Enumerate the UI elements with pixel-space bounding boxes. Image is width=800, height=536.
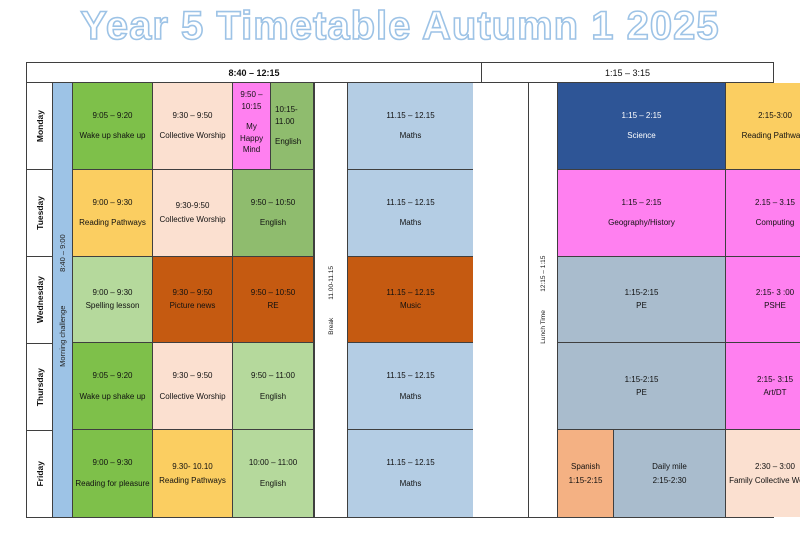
lesson-subject: Geography/History [608, 217, 675, 229]
lunch-column: Lunch Time 12:15 – 1:15 [528, 83, 558, 517]
lesson-cell[interactable]: 9:50 – 10:50RE [233, 257, 314, 344]
day-label-column: Monday Tuesday Wednesday Thursday Friday [27, 83, 53, 517]
lesson-time: 2:30 – 3:00 [755, 461, 795, 473]
page-title: Year 5 Timetable Autumn 1 2025 [0, 4, 800, 49]
lesson-time: 2:15- 3 :00 [756, 287, 794, 299]
lesson-time: 1:15 – 2:15 [621, 110, 661, 122]
break-column: Break 11.00-11.15 [314, 83, 348, 517]
afternoon-period-header: 1:15 – 3:15 [482, 63, 773, 82]
core-row-tuesday: 11.15 – 12.15Maths [348, 170, 473, 257]
lesson-time: 9:05 – 9:20 [92, 370, 132, 382]
lesson-cell[interactable]: 9:30 – 9:50Collective Worship [153, 83, 233, 170]
timetable-grid: 8:40 – 12:15 1:15 – 3:15 Monday Tuesday … [26, 62, 774, 518]
lesson-subject: English [260, 478, 286, 490]
maths-column: 11.15 – 12.15Maths11.15 – 12.15Maths11.1… [348, 83, 473, 517]
afternoon-row-friday: Spanish1:15-2:15Daily mile2:15-2:302:30 … [558, 430, 773, 517]
morning-row-wednesday: 9:00 – 9:30Spelling lesson9:30 – 9:50Pic… [73, 257, 314, 344]
lesson-subject: Reading Pathways [79, 217, 146, 229]
lesson-cell[interactable]: 9:00 – 9:30Spelling lesson [73, 257, 153, 344]
timetable-page: Year 5 Timetable Autumn 1 2025 8:40 – 12… [0, 0, 800, 536]
lesson-subject: Music [400, 300, 421, 312]
core-row-thursday: 11.15 – 12.15Maths [348, 343, 473, 430]
break-label: Break [328, 317, 335, 334]
afternoon-row-tuesday: 1:15 – 2:15Geography/History2.15 – 3.15C… [558, 170, 773, 257]
lesson-cell[interactable]: 1:15-2:15PE [558, 257, 726, 344]
lesson-cell[interactable]: 9:30 – 9:50Collective Worship [153, 343, 233, 430]
period-header-row: 8:40 – 12:15 1:15 – 3:15 [27, 63, 773, 83]
morning-challenge-text: Morning challenge 8:40 – 9:00 [58, 234, 67, 367]
lesson-subject: PE [636, 300, 647, 312]
lesson-subject: RE [267, 300, 278, 312]
lesson-time: 9:00 – 9:30 [92, 457, 132, 469]
morning-row-thursday: 9:05 – 9:20Wake up shake up9:30 – 9:50Co… [73, 343, 314, 430]
lesson-subject: My Happy Mind [234, 121, 269, 156]
lesson-time: 11.15 – 12.15 [386, 457, 434, 469]
morning-block: 9:05 – 9:20Wake up shake up9:30 – 9:50Co… [73, 83, 528, 517]
core-row-monday: 11.15 – 12.15Maths [348, 83, 473, 170]
lesson-subject: Collective Worship [159, 214, 225, 226]
day-label-wednesday: Wednesday [27, 257, 52, 344]
lesson-time: 2:15-3:00 [758, 110, 792, 122]
afternoon-row-monday: 1:15 – 2:15Science2:15-3:00Reading Pathw… [558, 83, 773, 170]
lesson-time: 11.15 – 12.15 [386, 370, 434, 382]
lunch-text: Lunch Time 12:15 – 1:15 [540, 256, 547, 344]
lesson-subject: Wake up shake up [80, 130, 146, 142]
lesson-time: 9:30 – 9:50 [172, 287, 212, 299]
timetable-body: Monday Tuesday Wednesday Thursday Friday [27, 83, 773, 517]
lesson-subject: 1:15-2:15 [569, 475, 603, 487]
lesson-subject: English [260, 217, 286, 229]
lesson-time: 9:30-9:50 [176, 200, 210, 212]
lesson-subject: Maths [400, 130, 422, 142]
lesson-time: 2.15 – 3.15 [755, 197, 795, 209]
lesson-cell[interactable]: 1:15 – 2:15Geography/History [558, 170, 726, 257]
lunch-label: Lunch Time [540, 310, 547, 344]
lesson-cell[interactable]: 9:05 – 9:20Wake up shake up [73, 343, 153, 430]
lesson-cell[interactable]: 9:00 – 9:30Reading for pleasure [73, 430, 153, 517]
lesson-cell[interactable]: 2:15- 3:15Art/DT [726, 343, 800, 430]
lesson-subject: Picture news [170, 300, 216, 312]
lesson-time: Daily mile [652, 461, 687, 473]
afternoon-row-wednesday: 1:15-2:15PE2:15- 3 :00PSHE [558, 257, 773, 344]
morning-lessons-columns: 9:05 – 9:20Wake up shake up9:30 – 9:50Co… [73, 83, 314, 517]
lesson-subject: English [260, 391, 286, 403]
lesson-time: 9:05 – 9:20 [92, 110, 132, 122]
lesson-time: 9:00 – 9:30 [92, 197, 132, 209]
core-row-friday: 11.15 – 12.15Maths [348, 430, 473, 517]
lesson-cell[interactable]: 9:50 – 10:15My Happy Mind [233, 83, 271, 170]
day-label-tuesday: Tuesday [27, 170, 52, 257]
lesson-time: 9:30 – 9:50 [172, 370, 212, 382]
lesson-cell[interactable]: Daily mile2:15-2:30 [614, 430, 726, 517]
lesson-cell[interactable]: 11.15 – 12.15Music [348, 257, 473, 344]
day-name-text: Thursday [35, 368, 45, 406]
lesson-subject: Wake up shake up [80, 391, 146, 403]
lesson-cell[interactable]: 9.30- 10.10Reading Pathways [153, 430, 233, 517]
lesson-subject: Reading Pathways [159, 475, 226, 487]
lesson-subject: PE [636, 387, 647, 399]
lesson-cell[interactable]: Spanish1:15-2:15 [558, 430, 614, 517]
lesson-subject: Collective Worship [159, 391, 225, 403]
day-label-thursday: Thursday [27, 344, 52, 431]
lesson-cell[interactable]: 10:15-11.00English [271, 83, 314, 170]
lunch-time: 12:15 – 1:15 [540, 256, 547, 292]
lesson-subject: Maths [400, 478, 422, 490]
lesson-subject: Art/DT [763, 387, 786, 399]
afternoon-row-thursday: 1:15-2:15PE2:15- 3:15Art/DT [558, 343, 773, 430]
lesson-time: 1:15-2:15 [625, 374, 659, 386]
lesson-cell[interactable]: 9:50 – 10:50English [233, 170, 314, 257]
lesson-cell[interactable]: 10:00 – 11:00English [233, 430, 314, 517]
lesson-cell[interactable]: 2:15- 3 :00PSHE [726, 257, 800, 344]
lesson-subject: Maths [400, 217, 422, 229]
lesson-time: 1:15-2:15 [625, 287, 659, 299]
lesson-subject: Science [627, 130, 655, 142]
lesson-subject: Family Collective Worship [729, 475, 800, 487]
lesson-subject: Maths [400, 391, 422, 403]
morning-row-monday: 9:05 – 9:20Wake up shake up9:30 – 9:50Co… [73, 83, 314, 170]
lesson-time: 10:00 – 11:00 [249, 457, 297, 469]
lesson-time: 9:00 – 9:30 [92, 287, 132, 299]
day-name-text: Friday [35, 461, 45, 487]
lesson-cell[interactable]: 11.15 – 12.15Maths [348, 170, 473, 257]
morning-row-tuesday: 9:00 – 9:30Reading Pathways9:30-9:50Coll… [73, 170, 314, 257]
lesson-cell[interactable]: 2:15-3:00Reading Pathways [726, 83, 800, 170]
lesson-time: 9:30 – 9:50 [172, 110, 212, 122]
lesson-subject: Reading Pathways [742, 130, 800, 142]
lesson-time: 1:15 – 2:15 [621, 197, 661, 209]
morning-challenge-label: Morning challenge [58, 305, 67, 366]
lesson-time: 10:15-11.00 [275, 104, 312, 127]
lesson-time: 11.15 – 12.15 [386, 110, 434, 122]
lesson-cell[interactable]: 1:15-2:15PE [558, 343, 726, 430]
day-name-text: Tuesday [35, 196, 45, 230]
core-row-wednesday: 11.15 – 12.15Music [348, 257, 473, 344]
afternoon-rows: 1:15 – 2:15Science2:15-3:00Reading Pathw… [558, 83, 773, 517]
break-time: 11.00-11.15 [328, 266, 335, 300]
lesson-cell[interactable]: 9:00 – 9:30Reading Pathways [73, 170, 153, 257]
lesson-time: 2:15- 3:15 [757, 374, 793, 386]
lesson-cell[interactable]: 2.15 – 3.15Computing [726, 170, 800, 257]
morning-period-header: 8:40 – 12:15 [27, 63, 482, 82]
lesson-time: 9:50 – 10:50 [251, 197, 295, 209]
lesson-subject: English [275, 136, 301, 148]
lesson-cell[interactable]: 1:15 – 2:15Science [558, 83, 726, 170]
lesson-subject: PSHE [764, 300, 786, 312]
break-text: Break 11.00-11.15 [328, 266, 335, 335]
lesson-subject: Reading for pleasure [75, 478, 149, 490]
lesson-cell[interactable]: 11.15 – 12.15Maths [348, 430, 473, 517]
afternoon-block: 1:15 – 2:15Science2:15-3:00Reading Pathw… [558, 83, 773, 517]
lesson-cell[interactable]: 9:05 – 9:20Wake up shake up [73, 83, 153, 170]
lesson-time: 9.30- 10.10 [172, 461, 212, 473]
lesson-cell[interactable]: 9:30 – 9:50Picture news [153, 257, 233, 344]
day-name-text: Wednesday [35, 276, 45, 323]
lesson-cell[interactable]: 9:30-9:50Collective Worship [153, 170, 233, 257]
lesson-time: 11.15 – 12.15 [386, 197, 434, 209]
day-label-monday: Monday [27, 83, 52, 170]
morning-challenge-time: 8:40 – 9:00 [58, 234, 67, 272]
lesson-cell[interactable]: 2:30 – 3:00Family Collective Worship [726, 430, 800, 517]
lesson-time: 9:50 – 10:50 [251, 287, 295, 299]
lesson-cell[interactable]: 9:50 – 11:00English [233, 343, 314, 430]
lesson-subject: Spelling lesson [86, 300, 140, 312]
morning-row-friday: 9:00 – 9:30Reading for pleasure9.30- 10.… [73, 430, 314, 517]
lesson-time: Spanish [571, 461, 600, 473]
lesson-subject: 2:15-2:30 [653, 475, 687, 487]
lesson-cell[interactable]: 11.15 – 12.15Maths [348, 83, 473, 170]
day-label-friday: Friday [27, 431, 52, 517]
lesson-cell[interactable]: 11.15 – 12.15Maths [348, 343, 473, 430]
day-name-text: Monday [35, 110, 45, 142]
lesson-time: 11.15 – 12.15 [386, 287, 434, 299]
lesson-subject: Computing [756, 217, 795, 229]
lesson-subject: Collective Worship [159, 130, 225, 142]
morning-challenge-column: Morning challenge 8:40 – 9:00 [53, 83, 73, 517]
lesson-time: 9:50 – 11:00 [251, 370, 295, 382]
lesson-time: 9:50 – 10:15 [234, 89, 269, 112]
